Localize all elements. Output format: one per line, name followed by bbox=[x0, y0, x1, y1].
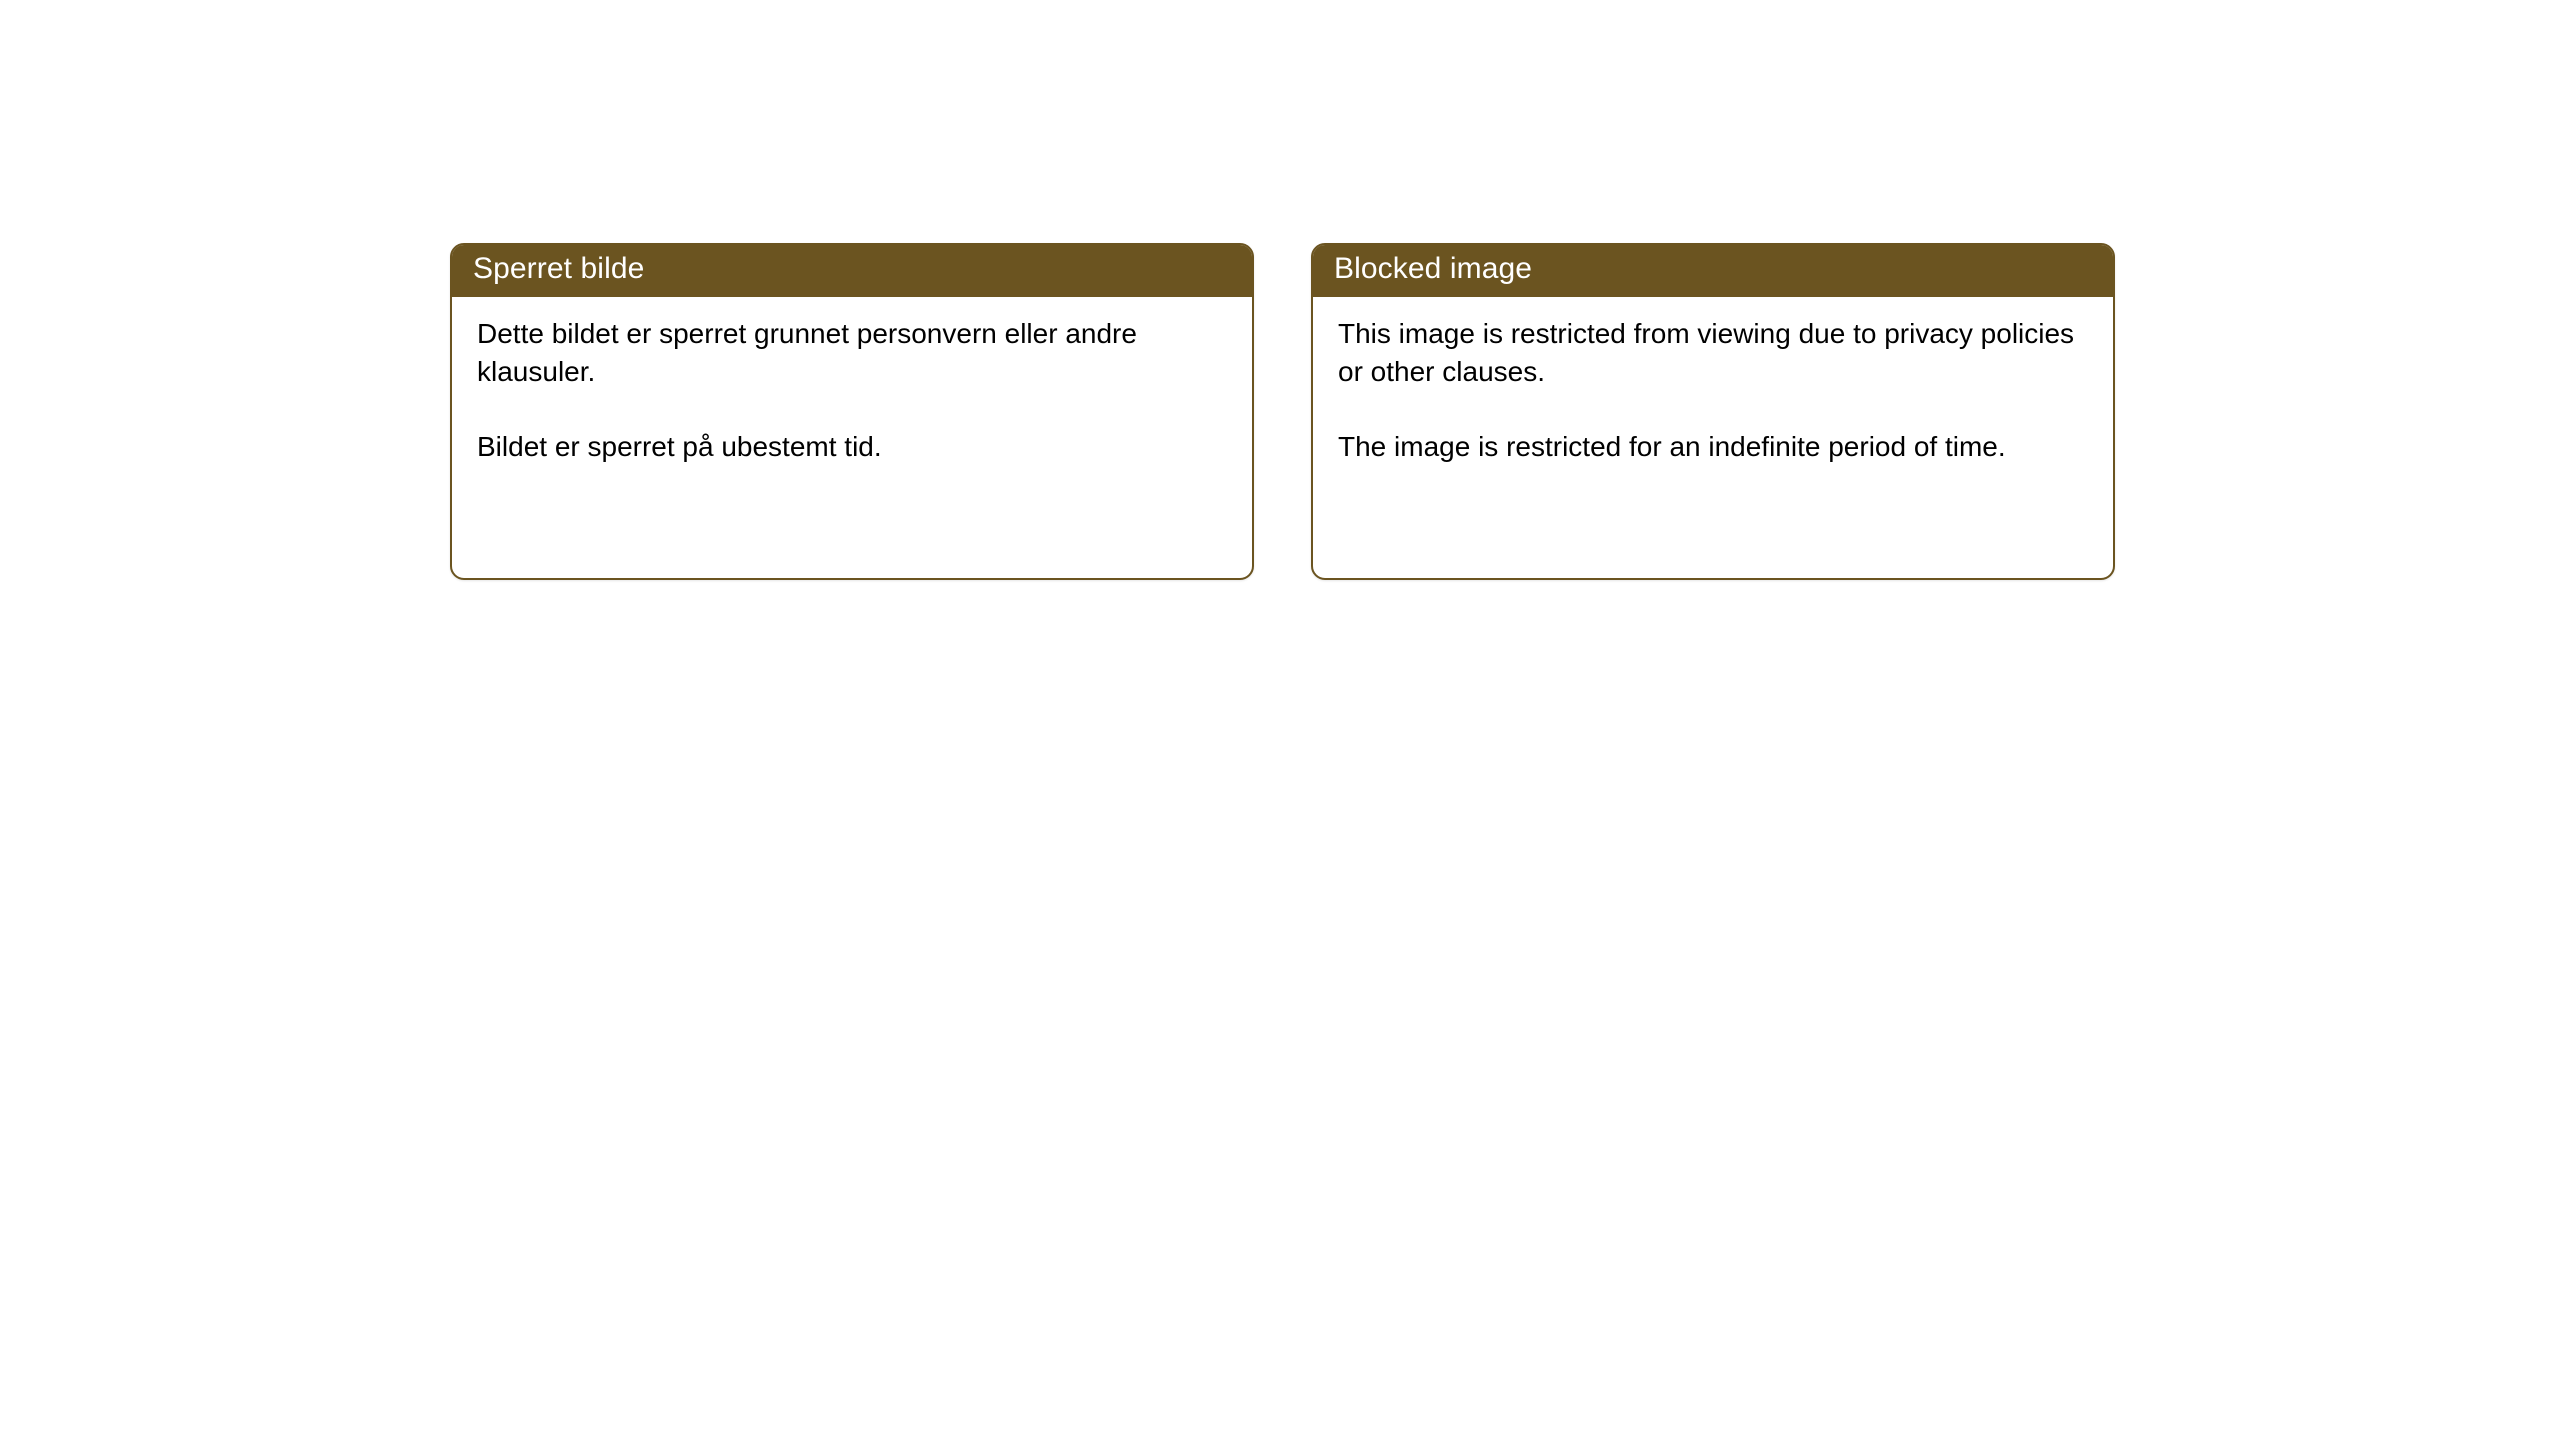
card-title-norwegian: Sperret bilde bbox=[473, 254, 644, 284]
card-header-english: Blocked image bbox=[1311, 243, 2115, 297]
card-paragraph-primary-norwegian: Dette bildet er sperret grunnet personve… bbox=[477, 315, 1226, 392]
blocked-image-card-english: Blocked image This image is restricted f… bbox=[1311, 243, 2115, 580]
card-paragraph-secondary-english: The image is restricted for an indefinit… bbox=[1338, 428, 2087, 466]
page-canvas: Sperret bilde Dette bildet er sperret gr… bbox=[0, 0, 2560, 1440]
card-header-norwegian: Sperret bilde bbox=[450, 243, 1254, 297]
card-title-english: Blocked image bbox=[1334, 254, 1532, 284]
card-paragraph-secondary-norwegian: Bildet er sperret på ubestemt tid. bbox=[477, 428, 1226, 466]
card-paragraph-primary-english: This image is restricted from viewing du… bbox=[1338, 315, 2087, 392]
blocked-image-card-norwegian: Sperret bilde Dette bildet er sperret gr… bbox=[450, 243, 1254, 580]
card-body-english: This image is restricted from viewing du… bbox=[1313, 297, 2113, 486]
card-body-norwegian: Dette bildet er sperret grunnet personve… bbox=[452, 297, 1252, 486]
